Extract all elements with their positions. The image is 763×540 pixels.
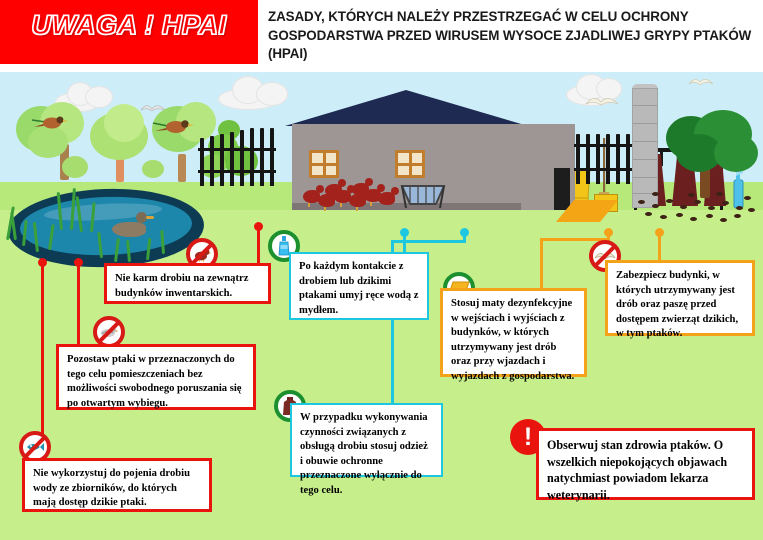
exclamation-label: ! xyxy=(524,425,532,450)
banner-label: UWAGA ! HPAI xyxy=(0,10,258,41)
page-title: ZASADY, KTÓRYCH NALEŻY PRZESTRZEGAĆ W CE… xyxy=(268,8,756,64)
callout-text: Stosuj maty dezynfekcyjne w wejściach i … xyxy=(451,298,574,382)
callout-observe-health[interactable]: Obserwuj stan zdrowia ptaków. O wszelkic… xyxy=(536,428,755,500)
water-fish-glyph xyxy=(25,440,45,454)
callout-wash-hands[interactable]: Po każdym kontakcie z drobiem lub dzikim… xyxy=(289,252,429,320)
callout-secure-buildings[interactable]: Zabezpiecz budynki, w których utrzymywan… xyxy=(605,260,755,336)
callout-no-surface-water[interactable]: Nie wykorzystuj do pojenia drobiu wody z… xyxy=(22,458,212,512)
callout-protective-clothing[interactable]: W przypadku wykonywania czynności związa… xyxy=(290,403,443,477)
callout-text: Zabezpiecz budynki, w których utrzymywan… xyxy=(616,270,738,339)
callout-no-outdoor-feeding[interactable]: Nie karm drobiu na zewnątrz budynków inw… xyxy=(104,263,271,304)
chicken-glyph xyxy=(194,247,211,262)
header: UWAGA ! HPAI ZASADY, KTÓRYCH NALEŻY PRZE… xyxy=(0,0,763,72)
callout-text: Nie karm drobiu na zewnątrz budynków inw… xyxy=(115,273,248,299)
callout-text: W przypadku wykonywania czynności związa… xyxy=(300,412,428,496)
callout-text: Po każdym kontakcie z drobiem lub dzikim… xyxy=(299,261,418,316)
infographic-page: UWAGA ! HPAI ZASADY, KTÓRYCH NALEŻY PRZE… xyxy=(0,0,763,540)
callout-text: Nie wykorzystuj do pojenia drobiu wody z… xyxy=(33,468,190,508)
callout-text: Obserwuj stan zdrowia ptaków. O wszelkic… xyxy=(547,438,727,502)
callout-disinfection-mats[interactable]: Stosuj maty dezynfekcyjne w wejściach i … xyxy=(440,288,587,377)
callout-keep-birds-indoors[interactable]: Pozostaw ptaki w przeznaczonych do tego … xyxy=(56,344,256,410)
free-range-glyph xyxy=(100,325,118,339)
callout-text: Pozostaw ptaki w przeznaczonych do tego … xyxy=(67,354,242,409)
